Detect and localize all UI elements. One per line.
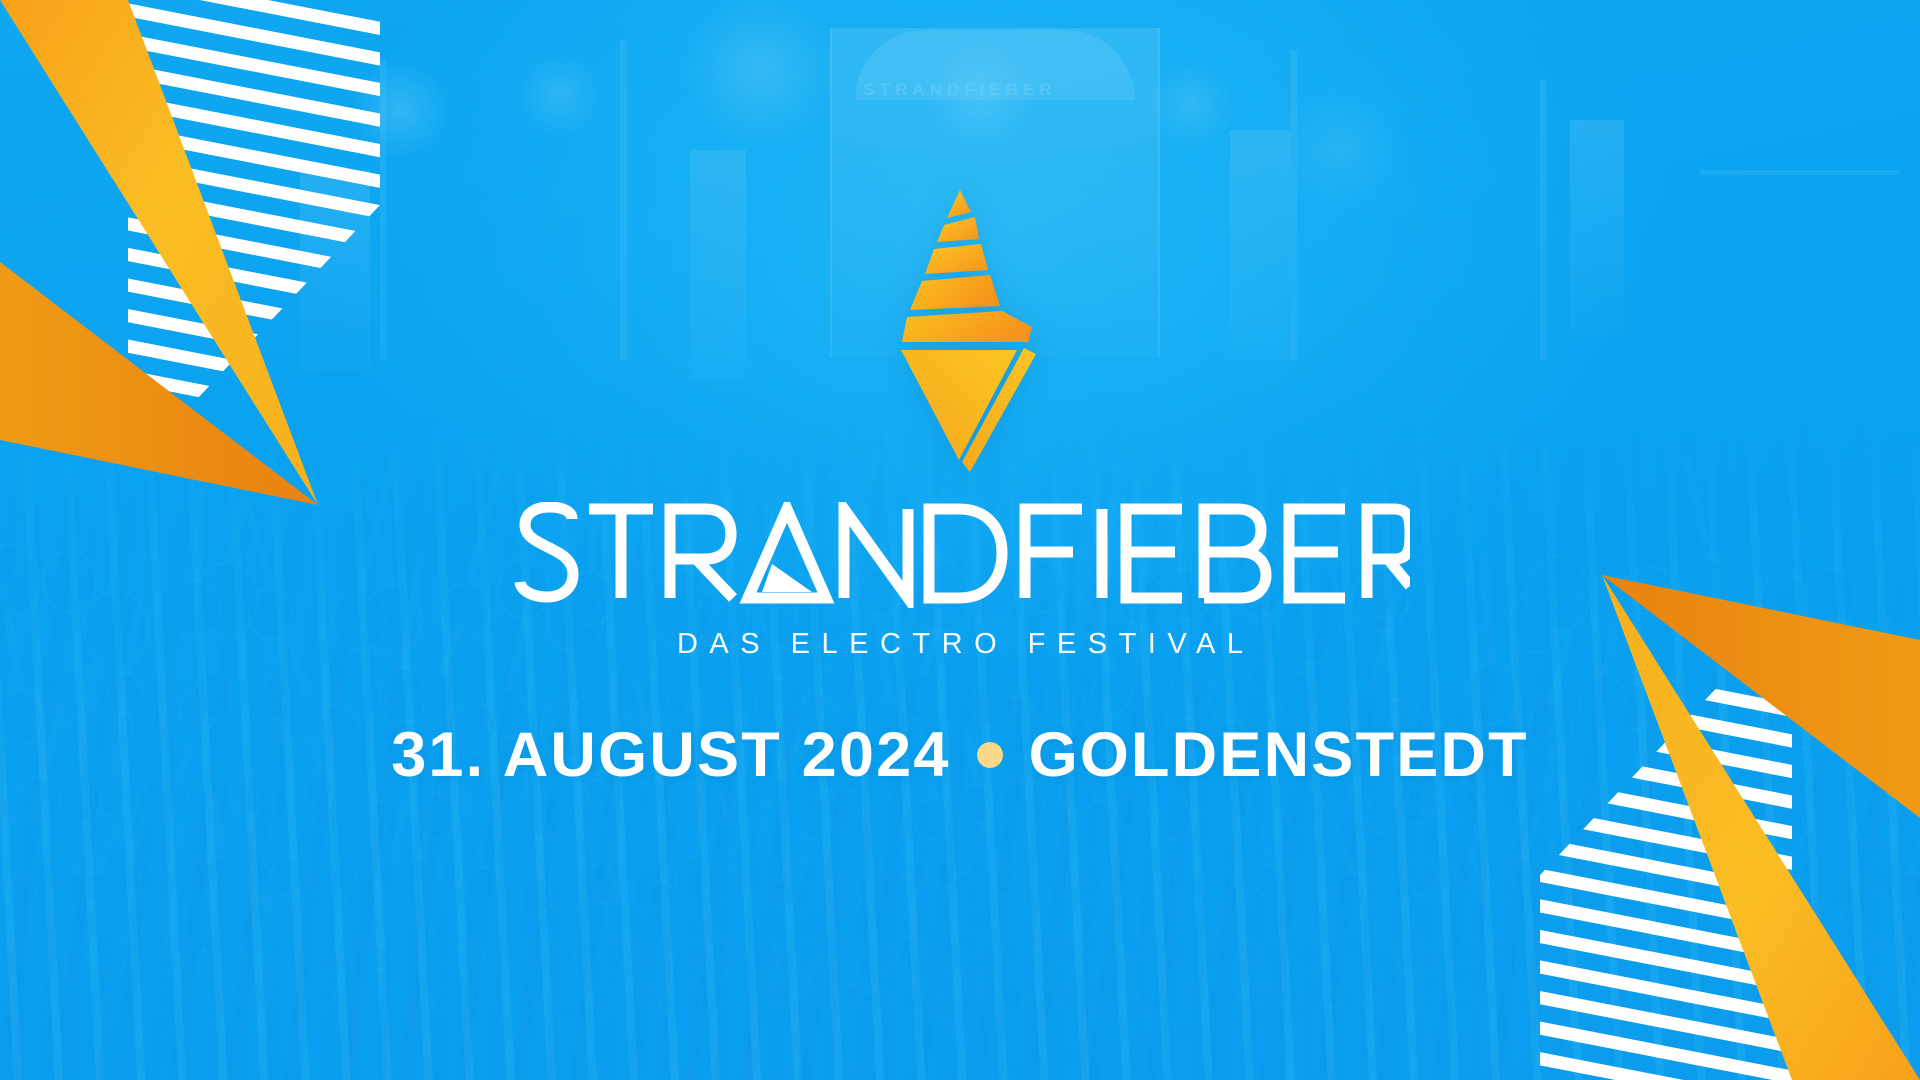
strandfieber-diamond-logo	[880, 182, 1040, 472]
wordmark-a-wedge	[762, 564, 812, 592]
logo-slice-3	[925, 244, 988, 274]
logo-slice-1	[947, 190, 971, 218]
separator-dot-icon	[977, 742, 1003, 768]
brand-wordmark	[510, 502, 1410, 608]
logo-slice-4	[910, 275, 1000, 310]
event-location: GOLDENSTEDT	[1029, 719, 1529, 791]
logo-slice-2	[937, 217, 979, 242]
event-date: 31. AUGUST 2024	[391, 719, 950, 791]
date-location-line: 31. AUGUST 2024 GOLDENSTEDT	[391, 719, 1529, 791]
festival-subtitle: DAS ELECTRO FESTIVAL	[665, 628, 1254, 661]
logo-slice-5	[902, 311, 1032, 342]
center-lockup: DAS ELECTRO FESTIVAL 31. AUGUST 2024 GOL…	[0, 0, 1920, 1080]
festival-poster: STRANDFIEBER	[0, 0, 1920, 1080]
